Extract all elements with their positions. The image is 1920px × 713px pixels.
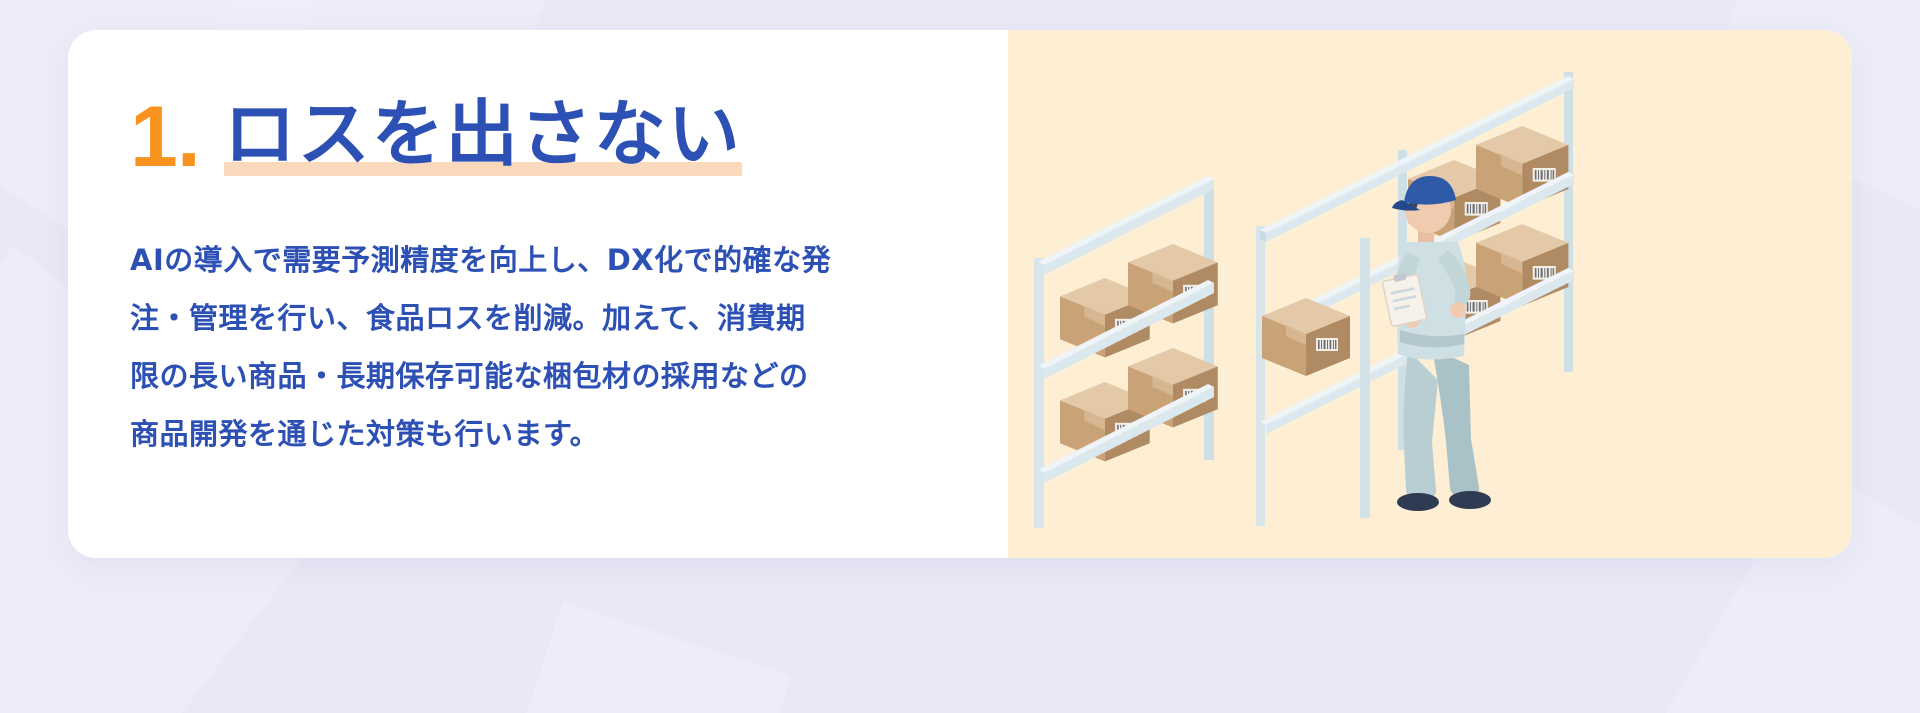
card-illustration-panel: [1008, 30, 1852, 558]
middle-shelf-boxes: [1262, 298, 1350, 376]
body-line-2: 注・管理を行い、食品ロスを削減。加えて、消費期: [130, 289, 820, 347]
bg-shape-6: [489, 602, 791, 713]
body-line-3: 限の長い商品・長期保存可能な梱包材の採用などの: [130, 347, 820, 405]
warehouse-illustration: [1008, 30, 1852, 558]
card-text-panel: 1. ロスを出さない AIの導入で需要予測精度を向上し、DX化で的確な発 注・管…: [68, 30, 1008, 558]
card-number: 1.: [130, 98, 200, 177]
body-line-4: 商品開発を通じた対策も行います。: [130, 405, 820, 463]
card-title-wrap: ロスを出さない: [210, 98, 742, 170]
feature-card: 1. ロスを出さない AIの導入で需要予測精度を向上し、DX化で的確な発 注・管…: [68, 30, 1852, 558]
body-line-1: AIの導入で需要予測精度を向上し、DX化で的確な発: [130, 231, 820, 289]
card-body-text: AIの導入で需要予測精度を向上し、DX化で的確な発 注・管理を行い、食品ロスを削…: [130, 231, 820, 463]
card-title: ロスを出さない: [224, 98, 742, 170]
card-heading-row: 1. ロスを出さない: [130, 98, 1008, 177]
